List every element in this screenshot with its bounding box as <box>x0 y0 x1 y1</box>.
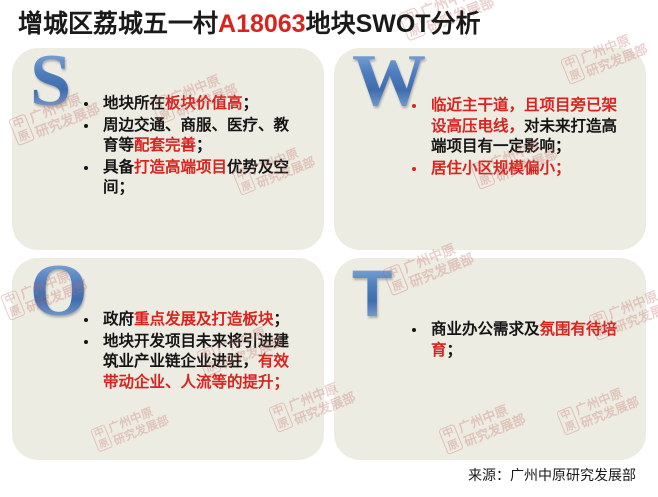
point-text-segment: 地块所在 <box>103 95 165 112</box>
swot-point-list: 地块所在板块价值高；周边交通、商服、医疗、教育等配套完善；具备打造高端项目优势及… <box>82 94 297 200</box>
point-text-segment: 重点发展及打造板块 <box>134 311 274 328</box>
title-suffix: 地块SWOT分析 <box>306 10 481 38</box>
point-text-segment: 具备 <box>103 159 134 176</box>
title-prefix: 增城区荔城五一村 <box>18 10 218 38</box>
point-text-segment: ； <box>243 95 259 112</box>
swot-point: 地块所在板块价值高； <box>82 94 297 115</box>
swot-quadrant-opportunities: O政府重点发展及打造板块；地块开发项目未来将引进建筑业产业链企业进驻，有效带动企… <box>12 258 324 460</box>
point-text-segment: ； <box>447 342 463 359</box>
swot-point-list: 政府重点发展及打造板块；地块开发项目未来将引进建筑业产业链企业进驻，有效带动企业… <box>82 310 300 394</box>
swot-quadrant-threats: T商业办公需求及氛围有待培育； <box>334 258 646 460</box>
swot-point-list: 临近主干道，且项目旁已架设高压电线，对未来打造高端项目有一定影响；居住小区规模偏… <box>410 96 628 180</box>
swot-point: 具备打造高端项目优势及空间； <box>82 158 297 199</box>
swot-quadrant-strengths: S地块所在板块价值高；周边交通、商服、医疗、教育等配套完善；具备打造高端项目优势… <box>12 48 324 250</box>
swot-point: 政府重点发展及打造板块； <box>82 310 300 331</box>
point-text-segment: ； <box>274 311 290 328</box>
swot-point: 周边交通、商服、医疗、教育等配套完善； <box>82 116 297 157</box>
swot-point: 商业办公需求及氛围有待培育； <box>410 320 628 361</box>
point-text-segment: 板块价值高 <box>165 95 243 112</box>
point-text-segment: 商业办公需求及 <box>431 321 540 338</box>
swot-point: 居住小区规模偏小； <box>410 159 628 180</box>
page-title: 增城区荔城五一村A18063地块SWOT分析 <box>18 4 481 40</box>
swot-grid: S地块所在板块价值高；周边交通、商服、医疗、教育等配套完善；具备打造高端项目优势… <box>12 48 646 460</box>
swot-letter-t: T <box>352 260 392 326</box>
point-text-segment: 政府 <box>103 311 134 328</box>
point-text-segment: 打造高端项目 <box>134 159 227 176</box>
title-highlight-code: A18063 <box>218 10 306 38</box>
swot-letter-o: O <box>30 258 88 328</box>
point-text-segment: 居住小区规模偏小； <box>431 160 571 177</box>
swot-quadrant-weaknesses: W临近主干道，且项目旁已架设高压电线，对未来打造高端项目有一定影响；居住小区规模… <box>334 48 646 250</box>
swot-point-list: 商业办公需求及氛围有待培育； <box>410 320 628 362</box>
swot-letter-s: S <box>30 48 71 118</box>
point-text-segment: 配套完善 <box>134 137 196 154</box>
point-text-segment: ； <box>196 137 212 154</box>
source-footnote: 来源：广州中原研究发展部 <box>468 465 636 485</box>
swot-point: 地块开发项目未来将引进建筑业产业链企业进驻，有效带动企业、人流等的提升； <box>82 332 300 394</box>
swot-point: 临近主干道，且项目旁已架设高压电线，对未来打造高端项目有一定影响； <box>410 96 628 158</box>
